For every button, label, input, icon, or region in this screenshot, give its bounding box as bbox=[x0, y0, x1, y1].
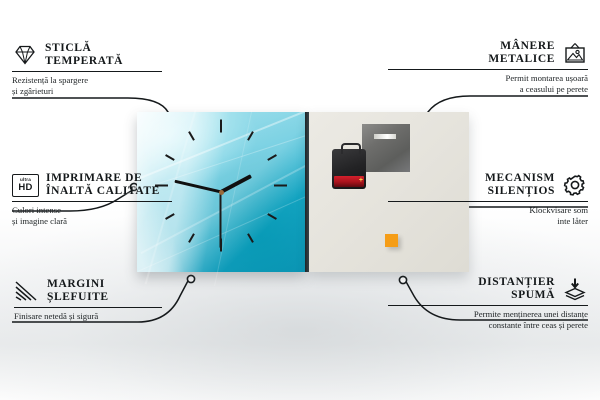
feature-title: MECANISM SILENȚIOS bbox=[485, 172, 555, 198]
beveled-edge-icon bbox=[14, 279, 40, 303]
press-down-pad-icon bbox=[562, 277, 588, 301]
feature-subtitle: și imagine clară bbox=[12, 216, 212, 227]
diamond-icon bbox=[12, 43, 38, 67]
divider bbox=[14, 307, 162, 308]
clock-tick bbox=[188, 131, 195, 141]
feature-polished-edges: MARGINI ȘLEFUITE Finisare netedă și sigu… bbox=[14, 278, 214, 322]
divider bbox=[388, 305, 588, 306]
movement-hook bbox=[341, 143, 361, 154]
feature-subtitle: Klockvisare som bbox=[388, 205, 588, 216]
feature-title: DISTANȚIER SPUMĂ bbox=[478, 276, 555, 302]
feature-tempered-glass: STICLĂ TEMPERATĂ Rezistență la spargere … bbox=[12, 42, 212, 96]
clock-tick bbox=[267, 154, 277, 161]
feature-title: STICLĂ TEMPERATĂ bbox=[45, 42, 123, 68]
metal-hanger-plate bbox=[362, 124, 410, 172]
clock-tick bbox=[267, 213, 277, 220]
divider bbox=[388, 69, 588, 70]
divider bbox=[388, 201, 588, 202]
feature-title: MÂNERE METALICE bbox=[488, 40, 555, 66]
feature-title: MARGINI ȘLEFUITE bbox=[47, 278, 109, 304]
clock-hour-hand bbox=[220, 174, 252, 193]
clock-tick bbox=[165, 154, 175, 161]
feature-foam-spacer: DISTANȚIER SPUMĂ Permite menținerea unei… bbox=[388, 276, 588, 330]
feature-subtitle: Finisare netedă și sigură bbox=[14, 311, 214, 322]
feature-subtitle: constante între ceas și perete bbox=[388, 320, 588, 331]
divider bbox=[12, 71, 162, 72]
feature-subtitle: Culori intense bbox=[12, 205, 212, 216]
clock-tick bbox=[247, 131, 254, 141]
feature-subtitle: a ceasului pe perete bbox=[388, 84, 588, 95]
clock-tick bbox=[188, 233, 195, 243]
feature-subtitle: Rezistență la spargere bbox=[12, 75, 212, 86]
feature-subtitle: Permite menținerea unei distanțe bbox=[388, 309, 588, 320]
clock-movement-box: + bbox=[332, 149, 366, 189]
feature-metal-handles: MÂNERE METALICE Permit montarea ușoară a… bbox=[388, 40, 588, 94]
feature-subtitle: și zgârieturi bbox=[12, 86, 212, 97]
feature-subtitle: Permit montarea ușoară bbox=[388, 73, 588, 84]
battery-polarity: + bbox=[359, 177, 363, 184]
foam-spacer-pad bbox=[385, 234, 398, 247]
clock-tick bbox=[220, 120, 222, 133]
gear-icon bbox=[562, 173, 588, 197]
clock-tick bbox=[274, 185, 287, 187]
feature-title: IMPRIMARE DE ÎNALTĂ CALITATE bbox=[46, 172, 160, 198]
feature-silent-mechanism: MECANISM SILENȚIOS Klockvisare som inte … bbox=[388, 172, 588, 226]
clock-tick bbox=[247, 233, 254, 243]
ultra-hd-icon: ultraHD bbox=[12, 174, 39, 197]
infographic-canvas: + STICLĂ TEMPERATĂ Rezistență la sparger… bbox=[0, 0, 600, 400]
hanging-picture-frame-icon bbox=[562, 41, 588, 65]
feature-high-quality-print: ultraHD IMPRIMARE DE ÎNALTĂ CALITATE Cul… bbox=[12, 172, 212, 226]
clock-center-cap bbox=[219, 190, 224, 195]
divider bbox=[12, 201, 172, 202]
battery: + bbox=[334, 176, 364, 187]
feature-subtitle: inte låter bbox=[388, 216, 588, 227]
